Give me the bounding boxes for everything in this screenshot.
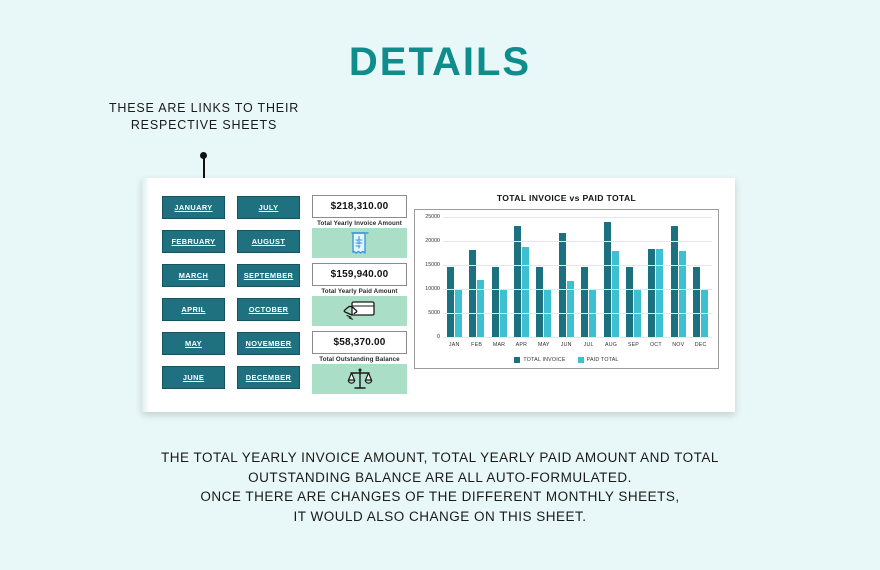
invoice-vs-paid-chart: TOTAL INVOICE vs PAID TOTAL JANFEBMARAPR… [414, 193, 719, 388]
month-link-september[interactable]: SEPTEMBER [237, 264, 300, 287]
chart-y-tick-label: 10000 [425, 286, 440, 292]
chart-x-tick-label: JUL [581, 342, 596, 348]
month-links-grid: JANUARYJULYFEBRUARYAUGUSTMARCHSEPTEMBERA… [162, 196, 300, 389]
chart-legend-label: PAID TOTAL [587, 357, 619, 363]
chart-y-tick-label: 15000 [425, 262, 440, 268]
total-group-1: $218,310.00Total Yearly Invoice Amount$ [312, 195, 407, 258]
chart-bar-group: JAN [447, 218, 462, 338]
chart-bars: JANFEBMARAPRMAYJUNJULAUGSEPOCTNOVDEC [443, 218, 712, 338]
chart-x-tick-label: APR [514, 342, 529, 348]
month-link-label: MAY [185, 339, 202, 348]
chart-gridline: 10000 [443, 289, 712, 290]
totals-column: $218,310.00Total Yearly Invoice Amount$$… [312, 195, 407, 399]
chart-bar [522, 247, 529, 338]
chart-legend-swatch [578, 357, 584, 363]
chart-bar-group: MAY [536, 218, 551, 338]
chart-bar-group: DEC [693, 218, 708, 338]
chart-bar [536, 267, 543, 338]
month-link-label: SEPTEMBER [244, 271, 294, 280]
chart-plot-area: JANFEBMARAPRMAYJUNJULAUGSEPOCTNOVDEC 050… [443, 218, 712, 338]
chart-legend-item: PAID TOTAL [578, 357, 619, 363]
footer-line: THE TOTAL YEARLY INVOICE AMOUNT, TOTAL Y… [0, 448, 880, 468]
chart-bar-group: MAR [492, 218, 507, 338]
chart-y-tick-label: 20000 [425, 238, 440, 244]
chart-bar-group: AUG [604, 218, 619, 338]
chart-bar-group: JUN [559, 218, 574, 338]
chart-bar [447, 267, 454, 338]
month-link-july[interactable]: JULY [237, 196, 300, 219]
chart-bar [514, 226, 521, 338]
panel-left-edge [142, 178, 150, 412]
chart-bar [693, 267, 700, 338]
month-link-label: JUNE [183, 373, 204, 382]
chart-y-tick-label: 5000 [428, 310, 440, 316]
total-value[interactable]: $159,940.00 [312, 263, 407, 286]
chart-x-tick-label: SEP [626, 342, 641, 348]
chart-x-tick-label: MAY [536, 342, 551, 348]
chart-gridline: 0 [443, 337, 712, 338]
chart-gridline: 20000 [443, 241, 712, 242]
total-label: Total Yearly Invoice Amount [312, 218, 407, 228]
chart-gridline: 25000 [443, 217, 712, 218]
chart-legend-swatch [514, 357, 520, 363]
month-link-march[interactable]: MARCH [162, 264, 225, 287]
chart-bar [648, 249, 655, 338]
footer-line: IT WOULD ALSO CHANGE ON THIS SHEET. [0, 507, 880, 527]
month-link-label: JULY [259, 203, 279, 212]
month-link-may[interactable]: MAY [162, 332, 225, 355]
month-link-label: MARCH [179, 271, 209, 280]
total-value[interactable]: $218,310.00 [312, 195, 407, 218]
chart-bar [656, 249, 663, 338]
chart-x-tick-label: JAN [447, 342, 462, 348]
month-link-february[interactable]: FEBRUARY [162, 230, 225, 253]
page-title: DETAILS [0, 40, 880, 85]
invoice-receipt-icon: $ [312, 228, 407, 258]
chart-gridline: 15000 [443, 265, 712, 266]
chart-x-tick-label: MAR [492, 342, 507, 348]
chart-x-tick-label: FEB [469, 342, 484, 348]
svg-text:$: $ [356, 238, 360, 246]
chart-legend-item: TOTAL INVOICE [514, 357, 565, 363]
chart-x-tick-label: OCT [648, 342, 663, 348]
hand-credit-card-icon [312, 296, 407, 326]
total-label: Total Outstanding Balance [312, 354, 407, 364]
chart-x-tick-label: JUN [559, 342, 574, 348]
month-link-label: NOVEMBER [246, 339, 292, 348]
chart-bar-group: JUL [581, 218, 596, 338]
footer-line: ONCE THERE ARE CHANGES OF THE DIFFERENT … [0, 487, 880, 507]
balance-scale-icon [312, 364, 407, 394]
chart-bar [559, 233, 566, 338]
month-link-january[interactable]: JANUARY [162, 196, 225, 219]
month-link-label: FEBRUARY [172, 237, 216, 246]
chart-bar [679, 251, 686, 338]
chart-y-tick-label: 0 [437, 334, 440, 340]
chart-bar [671, 226, 678, 338]
month-link-june[interactable]: JUNE [162, 366, 225, 389]
month-link-label: APRIL [181, 305, 205, 314]
total-value[interactable]: $58,370.00 [312, 331, 407, 354]
chart-gridline: 5000 [443, 313, 712, 314]
footer-note: THE TOTAL YEARLY INVOICE AMOUNT, TOTAL Y… [0, 448, 880, 526]
chart-x-tick-label: DEC [693, 342, 708, 348]
chart-bar-group: APR [514, 218, 529, 338]
chart-bar [581, 267, 588, 338]
chart-x-tick-label: NOV [671, 342, 686, 348]
month-link-label: OCTOBER [249, 305, 289, 314]
chart-bar-group: SEP [626, 218, 641, 338]
chart-bar-group: NOV [671, 218, 686, 338]
chart-plot-frame: JANFEBMARAPRMAYJUNJULAUGSEPOCTNOVDEC 050… [414, 209, 719, 369]
total-group-2: $159,940.00Total Yearly Paid Amount [312, 263, 407, 326]
footer-line: OUTSTANDING BALANCE ARE ALL AUTO-FORMULA… [0, 468, 880, 488]
month-link-label: JANUARY [174, 203, 212, 212]
chart-bar [626, 267, 633, 338]
month-link-label: DECEMBER [246, 373, 292, 382]
chart-y-tick-label: 25000 [425, 214, 440, 220]
month-link-august[interactable]: AUGUST [237, 230, 300, 253]
chart-title: TOTAL INVOICE vs PAID TOTAL [414, 193, 719, 203]
total-group-3: $58,370.00Total Outstanding Balance [312, 331, 407, 394]
month-link-december[interactable]: DECEMBER [237, 366, 300, 389]
month-link-april[interactable]: APRIL [162, 298, 225, 321]
details-panel: JANUARYJULYFEBRUARYAUGUSTMARCHSEPTEMBERA… [142, 178, 735, 412]
month-link-label: AUGUST [252, 237, 286, 246]
chart-bar-group: FEB [469, 218, 484, 338]
total-label: Total Yearly Paid Amount [312, 286, 407, 296]
chart-bar-group: OCT [648, 218, 663, 338]
chart-legend-label: TOTAL INVOICE [523, 357, 565, 363]
chart-bar [492, 267, 499, 338]
chart-x-tick-label: AUG [604, 342, 619, 348]
month-link-november[interactable]: NOVEMBER [237, 332, 300, 355]
callout-note: THESE ARE LINKS TO THEIR RESPECTIVE SHEE… [108, 100, 300, 134]
month-link-october[interactable]: OCTOBER [237, 298, 300, 321]
chart-bar [469, 250, 476, 338]
chart-bar [604, 222, 611, 338]
chart-legend: TOTAL INVOICEPAID TOTAL [415, 357, 718, 363]
